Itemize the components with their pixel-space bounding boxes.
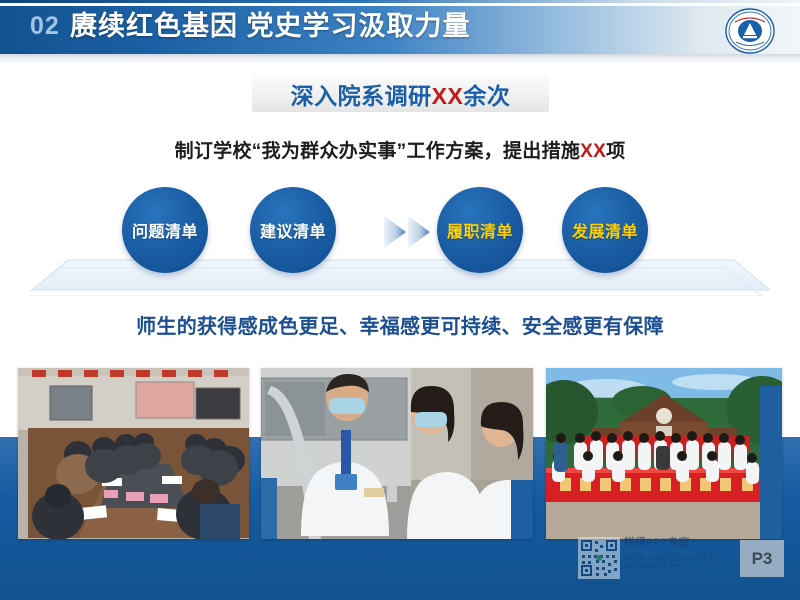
circle-node-1-label: 问题清单 [132,218,198,242]
watermark-brand: 锐得PPT专家 [624,537,730,550]
watermark: 锐得PPT专家 400—6089—881 提供 方案 定制 设计 服务 [578,537,730,579]
circle-node-2-label: 建议清单 [260,218,326,242]
headline-banner: 深入院系调研XX余次 [252,76,549,112]
circle-node-3-label: 履职清单 [447,218,513,242]
circle-node-1[interactable]: 问题清单 [122,187,208,273]
headline-text: 深入院系调研XX余次 [291,77,511,111]
circle-node-4[interactable]: 发展清单 [562,187,648,273]
qr-code-icon [578,537,620,579]
laboratory-inspection-photo [261,368,533,539]
headline-suffix: 余次 [463,83,510,109]
headline-prefix: 深入院系调研 [291,83,432,109]
subtitle-highlight: XX [580,141,606,162]
subtitle-suffix: 项 [606,141,625,162]
circle-node-3[interactable]: 履职清单 [437,187,523,273]
watermark-text: 锐得PPT专家 400—6089—881 提供 方案 定制 设计 服务 [624,537,730,571]
section-number: 02 [30,14,60,39]
header-bottom-line [0,54,800,62]
headline-highlight: XX [432,83,464,109]
bottom-statement: 师生的获得感成色更足、幸福感更可持续、安全感更有保障 [0,310,800,339]
double-chevron-right-icon [382,212,440,252]
watermark-phone: 400—6089—881 [624,550,730,564]
subtitle-line: 制订学校“我为群众办实事”工作方案，提出措施XX项 [0,136,800,163]
page-number-label: P3 [752,549,773,569]
university-seal-icon [719,6,781,56]
meeting-room-photo [18,368,249,539]
subtitle-prefix: 制订学校“我为群众办实事”工作方案，提出措施 [175,141,581,162]
page-number-badge: P3 [740,540,784,577]
watermark-subtext: 提供 方案 定制 设计 服务 [624,564,730,571]
circle-node-4-label: 发展清单 [572,218,638,242]
page-title: 赓续红色基因 党史学习汲取力量 [70,10,471,42]
group-banner-photo [546,368,782,539]
slide: 02 赓续红色基因 党史学习汲取力量 深入院系调研XX余次 制订学校“我为群众办… [0,0,800,600]
circle-node-2[interactable]: 建议清单 [250,187,336,273]
header-top-line [0,0,800,3]
